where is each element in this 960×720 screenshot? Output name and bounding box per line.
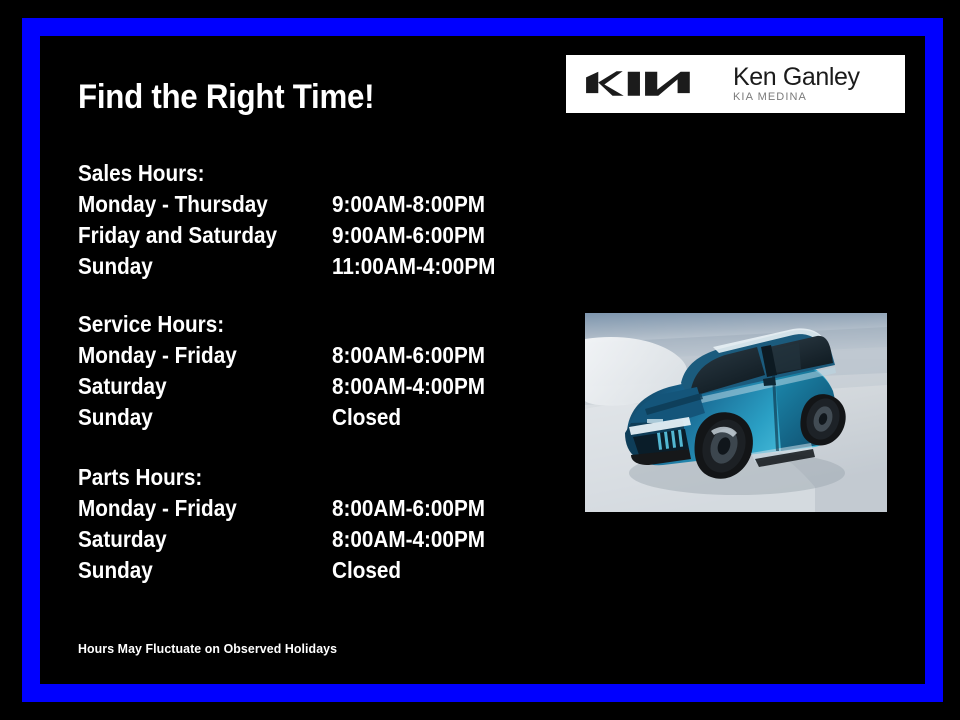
hours-day-label: Sunday <box>78 555 307 586</box>
vehicle-photo <box>585 313 887 512</box>
hours-time-value: 9:00AM-6:00PM <box>332 220 485 251</box>
hours-time-value: 8:00AM-4:00PM <box>332 524 485 555</box>
hours-day-label: Monday - Thursday <box>78 189 307 220</box>
hours-row: Friday and Saturday 9:00AM-6:00PM <box>78 220 514 251</box>
dealer-brand-name: Ken Ganley <box>733 64 860 90</box>
dealer-name-group: Ken Ganley KIA MEDINA <box>733 64 860 104</box>
hours-time-value: Closed <box>332 555 401 586</box>
dealer-logo-card: Ken Ganley KIA MEDINA <box>566 55 905 113</box>
hours-time-value: 8:00AM-4:00PM <box>332 371 485 402</box>
holiday-disclaimer: Hours May Fluctuate on Observed Holidays <box>78 641 337 656</box>
section-heading: Sales Hours: <box>78 158 470 189</box>
section-heading: Parts Hours: <box>78 462 460 493</box>
section-heading: Service Hours: <box>78 309 460 340</box>
hours-time-value: 9:00AM-8:00PM <box>332 189 485 220</box>
hours-time-value: Closed <box>332 402 401 433</box>
hours-row: Sunday Closed <box>78 555 502 586</box>
hours-day-label: Sunday <box>78 402 307 433</box>
hours-day-label: Sunday <box>78 251 307 282</box>
slide-root: Find the Right Time! Sales Hours: Monday… <box>0 0 960 720</box>
hours-row: Monday - Thursday 9:00AM-8:00PM <box>78 189 514 220</box>
hours-row: Sunday 11:00AM-4:00PM <box>78 251 514 282</box>
page-title: Find the Right Time! <box>78 78 374 117</box>
hours-section-service: Service Hours: Monday - Friday 8:00AM-6:… <box>78 309 502 433</box>
hours-day-label: Monday - Friday <box>78 340 307 371</box>
hours-row: Monday - Friday 8:00AM-6:00PM <box>78 340 502 371</box>
hours-time-value: 8:00AM-6:00PM <box>332 340 485 371</box>
hours-time-value: 11:00AM-4:00PM <box>332 251 495 282</box>
hours-section-sales: Sales Hours: Monday - Thursday 9:00AM-8:… <box>78 158 514 282</box>
hours-section-parts: Parts Hours: Monday - Friday 8:00AM-6:00… <box>78 462 502 586</box>
hours-row: Saturday 8:00AM-4:00PM <box>78 371 502 402</box>
dealer-sub-brand: KIA MEDINA <box>733 90 860 104</box>
hours-day-label: Saturday <box>78 371 307 402</box>
hours-row: Sunday Closed <box>78 402 502 433</box>
hours-day-label: Friday and Saturday <box>78 220 307 251</box>
hours-day-label: Monday - Friday <box>78 493 307 524</box>
hours-time-value: 8:00AM-6:00PM <box>332 493 485 524</box>
hours-row: Monday - Friday 8:00AM-6:00PM <box>78 493 502 524</box>
hours-day-label: Saturday <box>78 524 307 555</box>
hours-row: Saturday 8:00AM-4:00PM <box>78 524 502 555</box>
kia-logo-mark <box>581 69 703 99</box>
